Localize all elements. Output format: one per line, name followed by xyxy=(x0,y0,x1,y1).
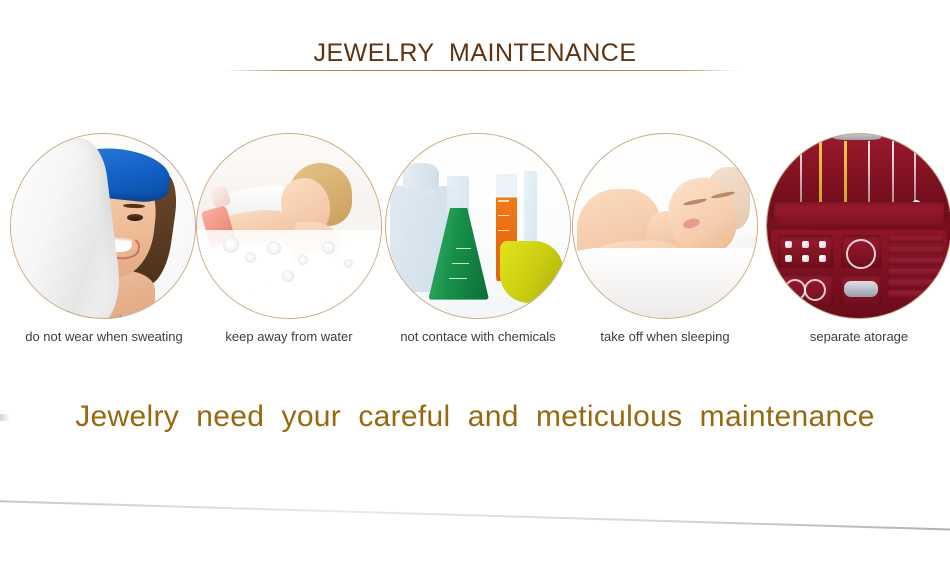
circle-frame xyxy=(572,133,758,319)
page-title-block: JEWELRY MAINTENANCE xyxy=(0,38,950,68)
tip-image-sweating xyxy=(10,133,196,319)
circle-frame xyxy=(10,133,196,319)
circle-frame xyxy=(766,133,950,319)
caption-chemicals: not contace with chemicals xyxy=(380,327,576,347)
caption-sleeping: take off when sleeping xyxy=(572,327,758,347)
caption-sweating: do not wear when sweating xyxy=(4,327,204,347)
photo-sleeping-woman-icon xyxy=(573,134,757,318)
circle-frame xyxy=(385,133,571,319)
caption-storage: separate atorage xyxy=(766,327,950,347)
photo-woman-in-bubble-bath-icon xyxy=(197,134,381,318)
photo-lab-flasks-icon xyxy=(386,134,570,318)
tip-image-sleeping xyxy=(572,133,758,319)
tip-image-storage xyxy=(766,133,950,319)
circle-frame xyxy=(196,133,382,319)
tip-image-chemicals xyxy=(385,133,571,319)
caption-water: keep away from water xyxy=(196,327,382,347)
tip-caption-row: do not wear when sweating keep away from… xyxy=(0,327,950,349)
tagline: Jewelry need your careful and meticulous… xyxy=(0,398,950,436)
page-title: JEWELRY MAINTENANCE xyxy=(0,38,950,68)
page-edge-tick xyxy=(0,414,10,421)
title-divider xyxy=(225,70,737,71)
tip-image-row xyxy=(0,133,950,323)
photo-smiling-woman-with-towel-icon xyxy=(11,134,195,318)
tip-image-water xyxy=(196,133,382,319)
page-bottom-edge xyxy=(0,500,950,531)
jewelry-maintenance-banner: JEWELRY MAINTENANCE xyxy=(0,0,950,570)
photo-red-velvet-jewelry-box-icon xyxy=(767,134,950,318)
